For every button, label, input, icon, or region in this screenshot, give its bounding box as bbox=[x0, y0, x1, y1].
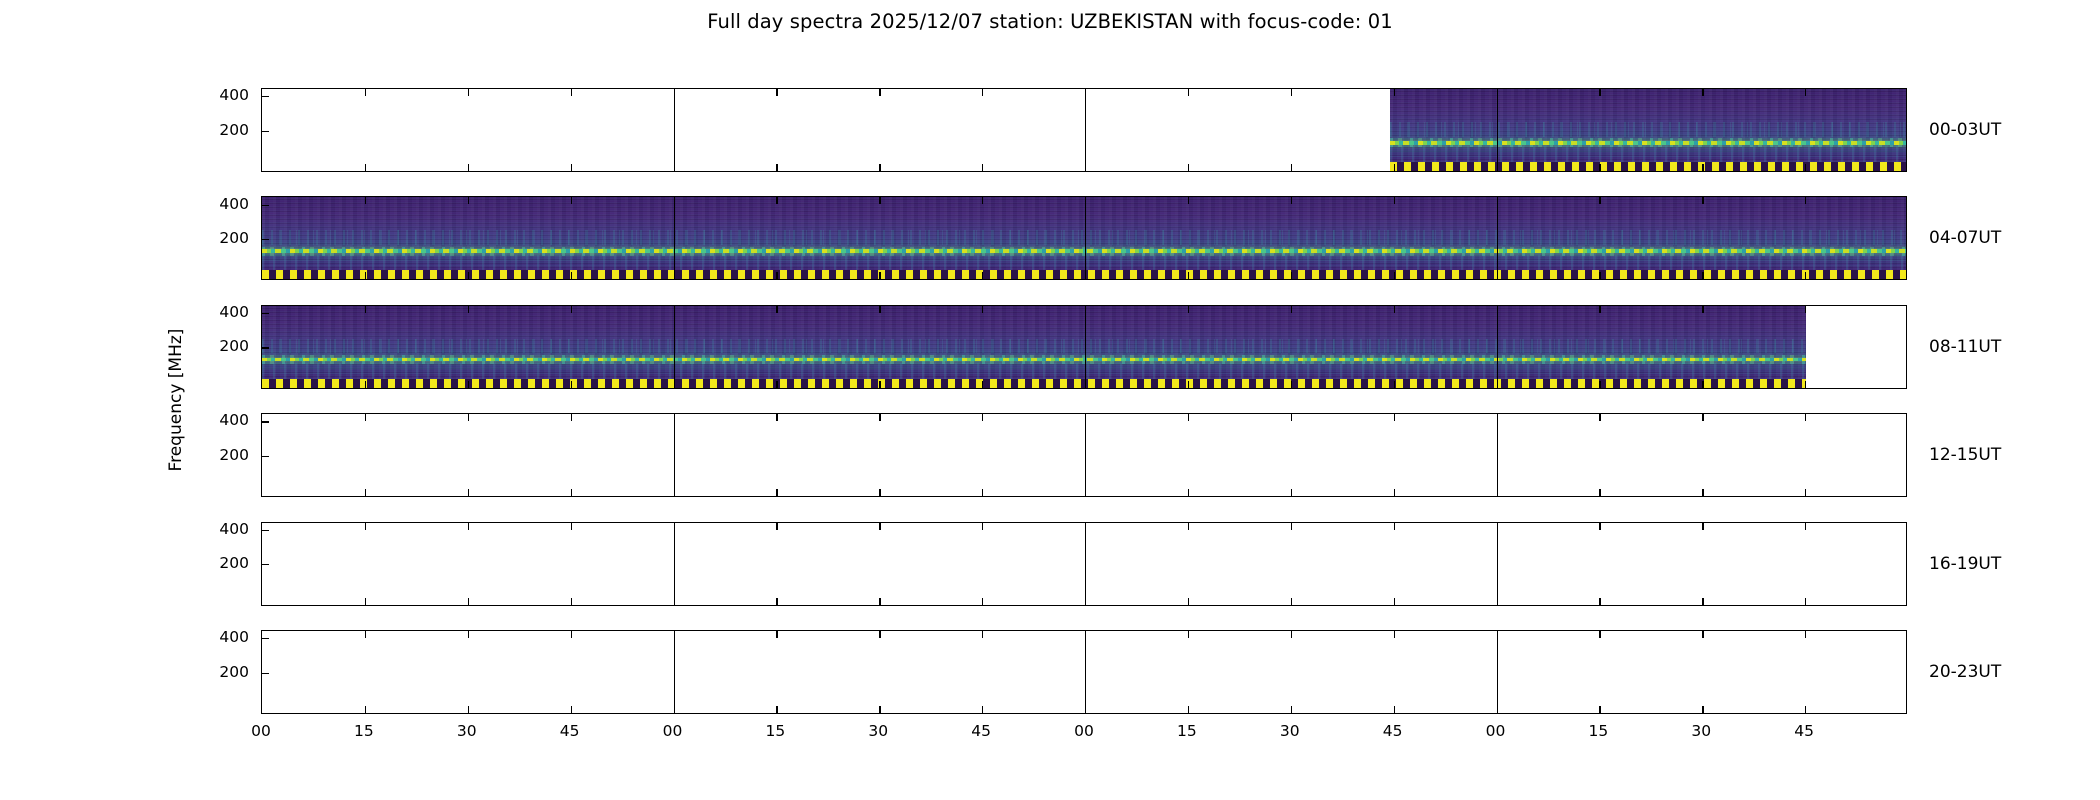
x-tick-mark bbox=[571, 489, 572, 496]
x-tick-mark bbox=[776, 381, 777, 388]
x-tick-mark bbox=[674, 164, 675, 171]
page-title: Full day spectra 2025/12/07 station: UZB… bbox=[0, 10, 2100, 33]
x-tick-mark-top bbox=[1805, 523, 1806, 530]
x-tick-mark bbox=[879, 272, 880, 279]
x-tick-mark-top bbox=[1599, 414, 1600, 421]
x-tick-mark bbox=[1394, 272, 1395, 279]
x-tick-mark-top bbox=[1188, 306, 1189, 313]
x-tick-mark bbox=[776, 598, 777, 605]
y-tick-label: 400 bbox=[219, 628, 249, 646]
x-tick-mark-top bbox=[365, 631, 366, 638]
emission-line bbox=[262, 358, 1806, 361]
y-tick-label: 400 bbox=[219, 520, 249, 538]
y-tick-label: 200 bbox=[219, 554, 249, 572]
x-tick-mark bbox=[982, 489, 983, 496]
x-tick-mark bbox=[1188, 706, 1189, 713]
x-tick-mark-top bbox=[365, 306, 366, 313]
row-label-04-07ut: 04-07UT bbox=[1929, 228, 2001, 248]
x-tick-label: 15 bbox=[1589, 722, 1609, 740]
x-tick-mark-top bbox=[1805, 414, 1806, 421]
x-tick-mark bbox=[1085, 706, 1086, 713]
x-tick-mark bbox=[1291, 272, 1292, 279]
x-tick-mark-top bbox=[674, 523, 675, 530]
x-tick-mark-top bbox=[879, 631, 880, 638]
x-tick-label: 30 bbox=[868, 722, 888, 740]
x-tick-mark-top bbox=[776, 631, 777, 638]
y-tick-mark bbox=[262, 131, 269, 132]
x-tick-mark-top bbox=[1394, 89, 1395, 96]
x-tick-mark bbox=[1085, 598, 1086, 605]
x-tick-mark-top bbox=[982, 306, 983, 313]
x-tick-mark-top bbox=[1291, 523, 1292, 530]
x-tick-mark bbox=[1805, 381, 1806, 388]
x-tick-mark-top bbox=[674, 306, 675, 313]
x-tick-mark-top bbox=[674, 197, 675, 204]
x-tick-mark-top bbox=[1702, 414, 1703, 421]
spectrogram-row-20-23ut[interactable] bbox=[261, 630, 1907, 714]
x-tick-mark bbox=[1599, 381, 1600, 388]
x-tick-mark-top bbox=[1497, 631, 1498, 638]
x-tick-mark-top bbox=[1291, 414, 1292, 421]
x-tick-mark bbox=[879, 381, 880, 388]
x-tick-mark-top bbox=[982, 631, 983, 638]
x-tick-mark bbox=[1599, 272, 1600, 279]
hour-separator bbox=[1085, 631, 1086, 713]
x-tick-mark bbox=[1805, 598, 1806, 605]
x-tick-mark-top bbox=[571, 306, 572, 313]
x-tick-mark-top bbox=[1599, 306, 1600, 313]
x-tick-mark-top bbox=[776, 306, 777, 313]
x-tick-mark bbox=[1805, 164, 1806, 171]
y-tick-label: 200 bbox=[219, 446, 249, 464]
x-tick-mark-top bbox=[879, 523, 880, 530]
row-label-20-23ut: 20-23UT bbox=[1929, 662, 2001, 682]
x-tick-mark bbox=[571, 706, 572, 713]
panel-frame bbox=[261, 413, 1907, 497]
x-tick-mark bbox=[468, 381, 469, 388]
spectrogram-row-16-19ut[interactable] bbox=[261, 522, 1907, 606]
x-tick-mark-top bbox=[1702, 523, 1703, 530]
x-tick-mark-top bbox=[468, 523, 469, 530]
x-tick-mark bbox=[879, 489, 880, 496]
x-tick-mark-top bbox=[1291, 89, 1292, 96]
y-tick-mark bbox=[262, 530, 269, 531]
x-tick-mark bbox=[468, 706, 469, 713]
x-tick-mark-top bbox=[1805, 89, 1806, 96]
x-tick-mark bbox=[571, 598, 572, 605]
x-tick-mark-top bbox=[982, 523, 983, 530]
x-tick-label: 00 bbox=[663, 722, 683, 740]
hour-separator bbox=[674, 523, 675, 605]
x-tick-mark-top bbox=[1805, 306, 1806, 313]
x-tick-label: 45 bbox=[1794, 722, 1814, 740]
x-tick-mark bbox=[1599, 489, 1600, 496]
x-tick-mark bbox=[1702, 706, 1703, 713]
spectrogram-data bbox=[1390, 89, 1908, 171]
x-tick-mark bbox=[365, 598, 366, 605]
x-tick-mark-top bbox=[365, 414, 366, 421]
x-tick-mark-top bbox=[1085, 197, 1086, 204]
x-tick-mark bbox=[776, 272, 777, 279]
y-tick-mark bbox=[262, 564, 269, 565]
x-tick-mark bbox=[674, 598, 675, 605]
hour-separator bbox=[674, 631, 675, 713]
x-tick-mark bbox=[1394, 706, 1395, 713]
x-tick-mark bbox=[468, 164, 469, 171]
x-tick-mark-top bbox=[879, 414, 880, 421]
x-tick-label: 00 bbox=[1074, 722, 1094, 740]
x-tick-mark bbox=[1188, 164, 1189, 171]
x-tick-mark-top bbox=[571, 631, 572, 638]
x-tick-mark bbox=[982, 598, 983, 605]
x-tick-mark-top bbox=[674, 89, 675, 96]
x-tick-mark bbox=[1085, 164, 1086, 171]
spectrogram-row-12-15ut[interactable] bbox=[261, 413, 1907, 497]
y-tick-label: 400 bbox=[219, 86, 249, 104]
x-tick-mark bbox=[1291, 489, 1292, 496]
x-tick-mark bbox=[674, 706, 675, 713]
x-tick-mark-top bbox=[1805, 197, 1806, 204]
panel-frame bbox=[261, 630, 1907, 714]
hour-separator bbox=[674, 306, 675, 388]
x-tick-mark-top bbox=[982, 414, 983, 421]
spectrogram-row-08-11ut[interactable] bbox=[261, 305, 1907, 389]
x-tick-mark-top bbox=[776, 523, 777, 530]
x-tick-mark bbox=[365, 489, 366, 496]
x-tick-mark bbox=[879, 598, 880, 605]
x-tick-mark-top bbox=[468, 197, 469, 204]
x-tick-mark bbox=[571, 272, 572, 279]
y-tick-mark bbox=[262, 456, 269, 457]
x-tick-mark bbox=[1394, 598, 1395, 605]
x-tick-mark-top bbox=[674, 631, 675, 638]
x-tick-mark-top bbox=[1702, 631, 1703, 638]
x-tick-mark-top bbox=[879, 89, 880, 96]
x-tick-mark-top bbox=[1188, 197, 1189, 204]
panel-frame bbox=[261, 305, 1907, 389]
emission-line bbox=[1390, 141, 1908, 144]
y-tick-mark bbox=[262, 347, 269, 348]
x-tick-mark-top bbox=[1702, 197, 1703, 204]
x-tick-label: 45 bbox=[560, 722, 580, 740]
x-tick-mark bbox=[1497, 381, 1498, 388]
x-tick-mark-top bbox=[468, 414, 469, 421]
x-tick-mark bbox=[1291, 706, 1292, 713]
x-tick-mark bbox=[1291, 381, 1292, 388]
x-tick-mark bbox=[1805, 489, 1806, 496]
y-tick-mark bbox=[262, 673, 269, 674]
x-tick-mark bbox=[674, 272, 675, 279]
x-tick-mark bbox=[1702, 272, 1703, 279]
x-tick-mark-top bbox=[674, 414, 675, 421]
x-tick-label: 00 bbox=[251, 722, 271, 740]
x-tick-mark-top bbox=[1291, 306, 1292, 313]
x-tick-mark bbox=[1599, 598, 1600, 605]
x-tick-mark bbox=[365, 272, 366, 279]
x-tick-mark bbox=[1188, 598, 1189, 605]
x-tick-mark bbox=[879, 706, 880, 713]
spectrogram-data bbox=[262, 306, 1806, 388]
hour-separator bbox=[1085, 89, 1086, 171]
hour-separator bbox=[674, 197, 675, 279]
row-label-00-03ut: 00-03UT bbox=[1929, 120, 2001, 140]
y-axis-label: Frequency [MHz] bbox=[166, 329, 186, 472]
spectrogram-row-00-03ut[interactable] bbox=[261, 88, 1907, 172]
x-tick-mark-top bbox=[1497, 523, 1498, 530]
y-tick-label: 200 bbox=[219, 121, 249, 139]
x-tick-mark bbox=[1805, 272, 1806, 279]
x-tick-mark bbox=[1394, 489, 1395, 496]
hour-separator bbox=[1497, 89, 1498, 171]
panel-frame bbox=[261, 196, 1907, 280]
x-tick-label: 30 bbox=[1691, 722, 1711, 740]
x-tick-mark-top bbox=[1599, 89, 1600, 96]
x-tick-mark-top bbox=[1394, 414, 1395, 421]
x-tick-mark bbox=[1085, 489, 1086, 496]
hour-separator bbox=[1085, 306, 1086, 388]
x-tick-mark-top bbox=[776, 414, 777, 421]
x-tick-mark-top bbox=[982, 89, 983, 96]
x-tick-label: 00 bbox=[1486, 722, 1506, 740]
x-tick-mark bbox=[468, 272, 469, 279]
x-tick-mark-top bbox=[571, 89, 572, 96]
x-tick-mark-top bbox=[1497, 197, 1498, 204]
x-tick-mark-top bbox=[1599, 523, 1600, 530]
panel-frame bbox=[261, 522, 1907, 606]
x-tick-mark-top bbox=[468, 89, 469, 96]
x-tick-mark bbox=[1805, 706, 1806, 713]
x-tick-mark bbox=[468, 489, 469, 496]
x-tick-mark bbox=[365, 381, 366, 388]
x-tick-mark-top bbox=[365, 197, 366, 204]
x-tick-mark-top bbox=[571, 523, 572, 530]
y-tick-label: 400 bbox=[219, 411, 249, 429]
x-tick-mark bbox=[1497, 272, 1498, 279]
x-tick-label: 45 bbox=[1383, 722, 1403, 740]
x-tick-mark-top bbox=[776, 89, 777, 96]
x-tick-label: 15 bbox=[766, 722, 786, 740]
x-tick-mark bbox=[1599, 706, 1600, 713]
hour-separator bbox=[1085, 414, 1086, 496]
x-tick-mark-top bbox=[879, 197, 880, 204]
x-tick-mark bbox=[1702, 164, 1703, 171]
x-tick-label: 45 bbox=[971, 722, 991, 740]
y-tick-label: 200 bbox=[219, 229, 249, 247]
x-tick-mark bbox=[571, 164, 572, 171]
y-tick-mark bbox=[262, 205, 269, 206]
x-tick-mark-top bbox=[982, 197, 983, 204]
panel-frame bbox=[261, 88, 1907, 172]
x-tick-mark bbox=[1085, 272, 1086, 279]
x-tick-mark-top bbox=[1188, 523, 1189, 530]
x-tick-mark-top bbox=[1702, 306, 1703, 313]
hour-separator bbox=[1497, 197, 1498, 279]
hour-separator bbox=[1497, 414, 1498, 496]
x-tick-mark-top bbox=[1497, 306, 1498, 313]
row-label-08-11ut: 08-11UT bbox=[1929, 337, 2001, 357]
x-tick-mark-top bbox=[1599, 631, 1600, 638]
y-tick-label: 400 bbox=[219, 195, 249, 213]
x-tick-mark-top bbox=[1394, 306, 1395, 313]
saturation-dashed-band bbox=[262, 379, 1806, 388]
x-tick-mark bbox=[1085, 381, 1086, 388]
x-tick-mark-top bbox=[879, 306, 880, 313]
x-tick-mark bbox=[982, 164, 983, 171]
y-tick-mark bbox=[262, 421, 269, 422]
x-tick-mark bbox=[776, 164, 777, 171]
y-tick-label: 400 bbox=[219, 303, 249, 321]
noise-speckle-upper bbox=[262, 339, 1806, 354]
x-tick-mark-top bbox=[1085, 523, 1086, 530]
x-tick-mark bbox=[1497, 164, 1498, 171]
row-label-16-19ut: 16-19UT bbox=[1929, 554, 2001, 574]
x-tick-mark-top bbox=[365, 89, 366, 96]
hour-separator bbox=[1085, 523, 1086, 605]
x-tick-mark-top bbox=[571, 197, 572, 204]
x-tick-mark bbox=[1188, 272, 1189, 279]
x-tick-mark bbox=[1291, 598, 1292, 605]
x-tick-mark bbox=[468, 598, 469, 605]
x-tick-mark-top bbox=[1085, 414, 1086, 421]
spectrogram-grid: 40020000-03UT40020004-07UT40020008-11UT4… bbox=[261, 88, 1907, 714]
spectrogram-row-04-07ut[interactable] bbox=[261, 196, 1907, 280]
x-tick-mark bbox=[982, 381, 983, 388]
x-tick-mark bbox=[776, 489, 777, 496]
x-tick-mark-top bbox=[776, 197, 777, 204]
x-tick-mark-top bbox=[1805, 631, 1806, 638]
x-tick-mark bbox=[1497, 489, 1498, 496]
x-tick-mark bbox=[1702, 598, 1703, 605]
y-tick-mark bbox=[262, 313, 269, 314]
x-tick-mark bbox=[776, 706, 777, 713]
x-tick-mark-top bbox=[1188, 414, 1189, 421]
y-tick-mark bbox=[262, 239, 269, 240]
x-tick-mark-top bbox=[1291, 631, 1292, 638]
noise-speckle-upper bbox=[1390, 122, 1908, 137]
x-tick-label: 15 bbox=[1177, 722, 1197, 740]
x-tick-mark-top bbox=[1702, 89, 1703, 96]
x-tick-mark-top bbox=[1085, 89, 1086, 96]
hour-separator bbox=[674, 89, 675, 171]
x-tick-mark bbox=[879, 164, 880, 171]
saturation-dashed-band bbox=[1390, 162, 1908, 171]
hour-separator bbox=[674, 414, 675, 496]
row-label-12-15ut: 12-15UT bbox=[1929, 445, 2001, 465]
x-tick-mark-top bbox=[1085, 631, 1086, 638]
x-tick-mark bbox=[982, 272, 983, 279]
hour-separator bbox=[1497, 306, 1498, 388]
x-tick-mark bbox=[1497, 706, 1498, 713]
x-tick-mark bbox=[365, 706, 366, 713]
x-tick-mark-top bbox=[1188, 631, 1189, 638]
x-tick-mark bbox=[1394, 381, 1395, 388]
hour-separator bbox=[1497, 631, 1498, 713]
x-tick-mark bbox=[1291, 164, 1292, 171]
x-tick-mark-top bbox=[1497, 89, 1498, 96]
x-tick-mark bbox=[1188, 489, 1189, 496]
x-tick-label: 15 bbox=[354, 722, 374, 740]
y-tick-mark bbox=[262, 96, 269, 97]
x-tick-mark bbox=[982, 706, 983, 713]
x-tick-mark bbox=[674, 381, 675, 388]
x-tick-mark bbox=[365, 164, 366, 171]
x-tick-mark-top bbox=[1188, 89, 1189, 96]
x-tick-mark bbox=[1599, 164, 1600, 171]
x-tick-mark-top bbox=[1394, 523, 1395, 530]
y-tick-label: 200 bbox=[219, 337, 249, 355]
x-tick-mark-top bbox=[1085, 306, 1086, 313]
hour-separator bbox=[1085, 197, 1086, 279]
hour-separator bbox=[1497, 523, 1498, 605]
x-tick-mark-top bbox=[1394, 631, 1395, 638]
x-tick-mark-top bbox=[1291, 197, 1292, 204]
x-tick-mark-top bbox=[1497, 414, 1498, 421]
x-tick-mark bbox=[1497, 598, 1498, 605]
x-tick-label: 30 bbox=[1280, 722, 1300, 740]
x-tick-mark-top bbox=[365, 523, 366, 530]
x-tick-mark bbox=[1702, 489, 1703, 496]
y-tick-label: 200 bbox=[219, 663, 249, 681]
x-tick-mark-top bbox=[571, 414, 572, 421]
x-tick-mark bbox=[674, 489, 675, 496]
x-tick-mark-top bbox=[1394, 197, 1395, 204]
x-tick-mark bbox=[1188, 381, 1189, 388]
x-tick-mark-top bbox=[468, 631, 469, 638]
x-tick-mark bbox=[1394, 164, 1395, 171]
y-tick-mark bbox=[262, 638, 269, 639]
x-tick-mark-top bbox=[468, 306, 469, 313]
x-tick-mark-top bbox=[1599, 197, 1600, 204]
x-tick-mark bbox=[1702, 381, 1703, 388]
x-tick-label: 30 bbox=[457, 722, 477, 740]
x-tick-mark bbox=[571, 381, 572, 388]
